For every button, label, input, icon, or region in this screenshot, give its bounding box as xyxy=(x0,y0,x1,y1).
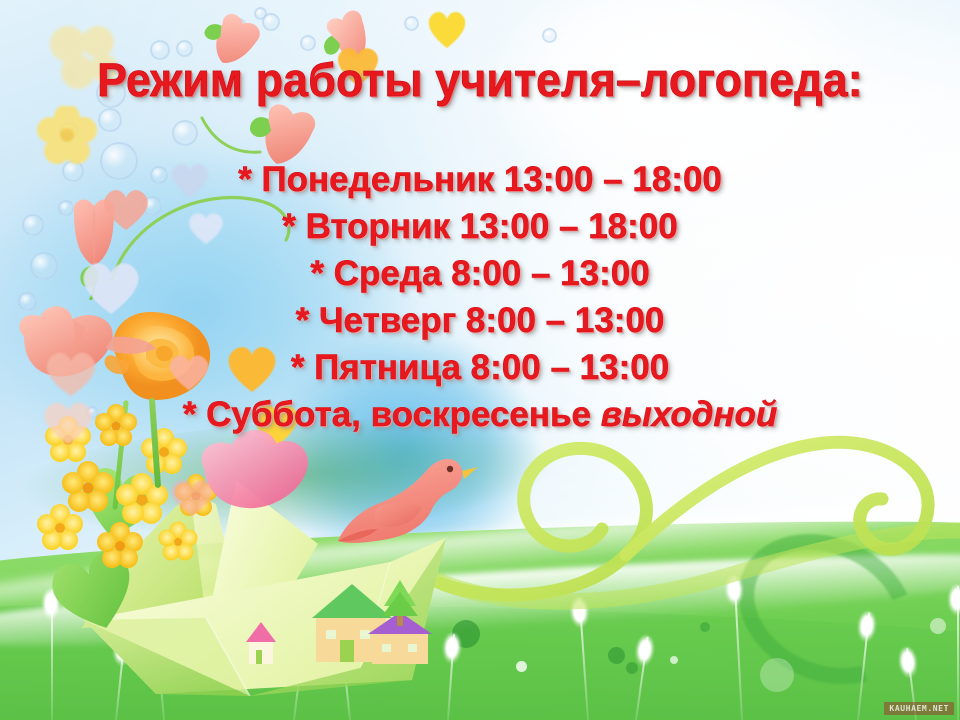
watermark: KAUHAEM.NET xyxy=(884,702,954,715)
pink-bird-icon xyxy=(330,445,480,555)
schedule-text: Суббота, воскресенье xyxy=(206,395,601,434)
schedule-bullet: * xyxy=(282,207,296,246)
yellow-butterfly-icon xyxy=(424,8,470,50)
schedule-text: Пятница 8:00 – 13:00 xyxy=(314,348,669,387)
page-title: Режим работы учителя–логопеда: xyxy=(24,52,936,107)
schedule-line: * Среда 8:00 – 13:00 xyxy=(0,250,960,297)
schedule-list: * Понедельник 13:00 – 18:00 * Вторник 13… xyxy=(0,156,960,438)
schedule-emphasis: выходной xyxy=(601,395,778,434)
schedule-line: * Суббота, воскресенье выходной xyxy=(0,391,960,438)
grass-dot xyxy=(760,658,794,692)
schedule-bullet: * xyxy=(296,301,310,340)
schedule-line: * Пятница 8:00 – 13:00 xyxy=(0,344,960,391)
schedule-text: Среда 8:00 – 13:00 xyxy=(334,254,650,293)
bubble-icon xyxy=(542,28,557,43)
poster-canvas: .hp1:before,.hp1:after{background:linear… xyxy=(0,0,960,720)
schedule-text: Вторник 13:00 – 18:00 xyxy=(306,207,678,246)
page-title-text: Режим работы учителя–логопеда: xyxy=(97,53,863,106)
schedule-bullet: * xyxy=(310,254,324,293)
grass-dot xyxy=(608,647,625,664)
schedule-bullet: * xyxy=(291,348,305,387)
schedule-bullet: * xyxy=(238,160,252,199)
schedule-text: Четверг 8:00 – 13:00 xyxy=(319,301,664,340)
lime-swirl-icon xyxy=(430,415,960,645)
schedule-bullet: * xyxy=(183,395,197,434)
schedule-line: * Понедельник 13:00 – 18:00 xyxy=(0,156,960,203)
schedule-line: * Четверг 8:00 – 13:00 xyxy=(0,297,960,344)
schedule-text: Понедельник 13:00 – 18:00 xyxy=(261,160,721,199)
grass-dot xyxy=(516,661,527,672)
grass-dot xyxy=(670,656,678,664)
schedule-line: * Вторник 13:00 – 18:00 xyxy=(0,203,960,250)
bubble-icon xyxy=(404,16,419,31)
